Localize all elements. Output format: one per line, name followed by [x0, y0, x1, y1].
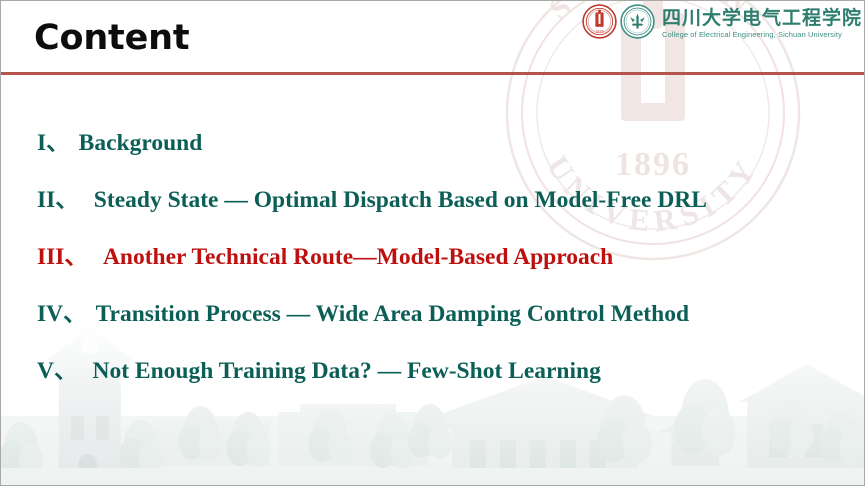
outline-item-3-label: Another Technical Route—Model-Based Appr…: [103, 243, 613, 271]
outline-item-5[interactable]: V、 Not Enough Training Data? — Few-Shot …: [1, 357, 865, 414]
outline-item-1-label: Background: [79, 129, 203, 157]
page-title: Content: [34, 17, 189, 59]
logo-english-name: College of Electrical Engineering, Sichu…: [662, 30, 862, 40]
outline-item-5-label: Not Enough Training Data? — Few-Shot Lea…: [92, 357, 600, 385]
presentation-slide: SICHUAN UNIVERSITY 1896: [0, 0, 865, 486]
sichuan-university-seal-icon: 1896: [582, 4, 617, 44]
header-divider-rule: [1, 72, 865, 75]
logo-wordmark: 四川大学电气工程学院 College of Electrical Enginee…: [662, 8, 862, 41]
outline-item-4-label: Transition Process — Wide Area Damping C…: [96, 300, 689, 328]
outline-item-2[interactable]: II、 Steady State — Optimal Dispatch Base…: [1, 186, 865, 243]
outline-item-1-numeral: I、: [37, 129, 70, 157]
outline-item-4-numeral: IV、: [37, 300, 87, 328]
outline-item-1[interactable]: I、 Background: [1, 129, 865, 186]
slide-header: Content 1896: [1, 1, 865, 75]
college-of-electrical-engineering-seal-icon: [620, 4, 655, 44]
logo-chinese-name: 四川大学电气工程学院: [662, 8, 862, 29]
institution-logo-lockup: 1896 四川大学电气工程学院: [582, 4, 862, 44]
outline-item-5-numeral: V、: [37, 357, 77, 385]
outline-item-2-label: Steady State — Optimal Dispatch Based on…: [94, 186, 707, 214]
outline-item-2-numeral: II、: [37, 186, 79, 214]
outline-item-3-numeral: III、: [37, 243, 88, 271]
outline-item-3[interactable]: III、 Another Technical Route—Model-Based…: [1, 243, 865, 300]
svg-text:1896: 1896: [595, 30, 604, 34]
outline-item-4[interactable]: IV、 Transition Process — Wide Area Dampi…: [1, 300, 865, 357]
garden-gazebo: [659, 412, 731, 466]
content-outline-list: I、 Background II、 Steady State — Optimal…: [1, 129, 865, 414]
